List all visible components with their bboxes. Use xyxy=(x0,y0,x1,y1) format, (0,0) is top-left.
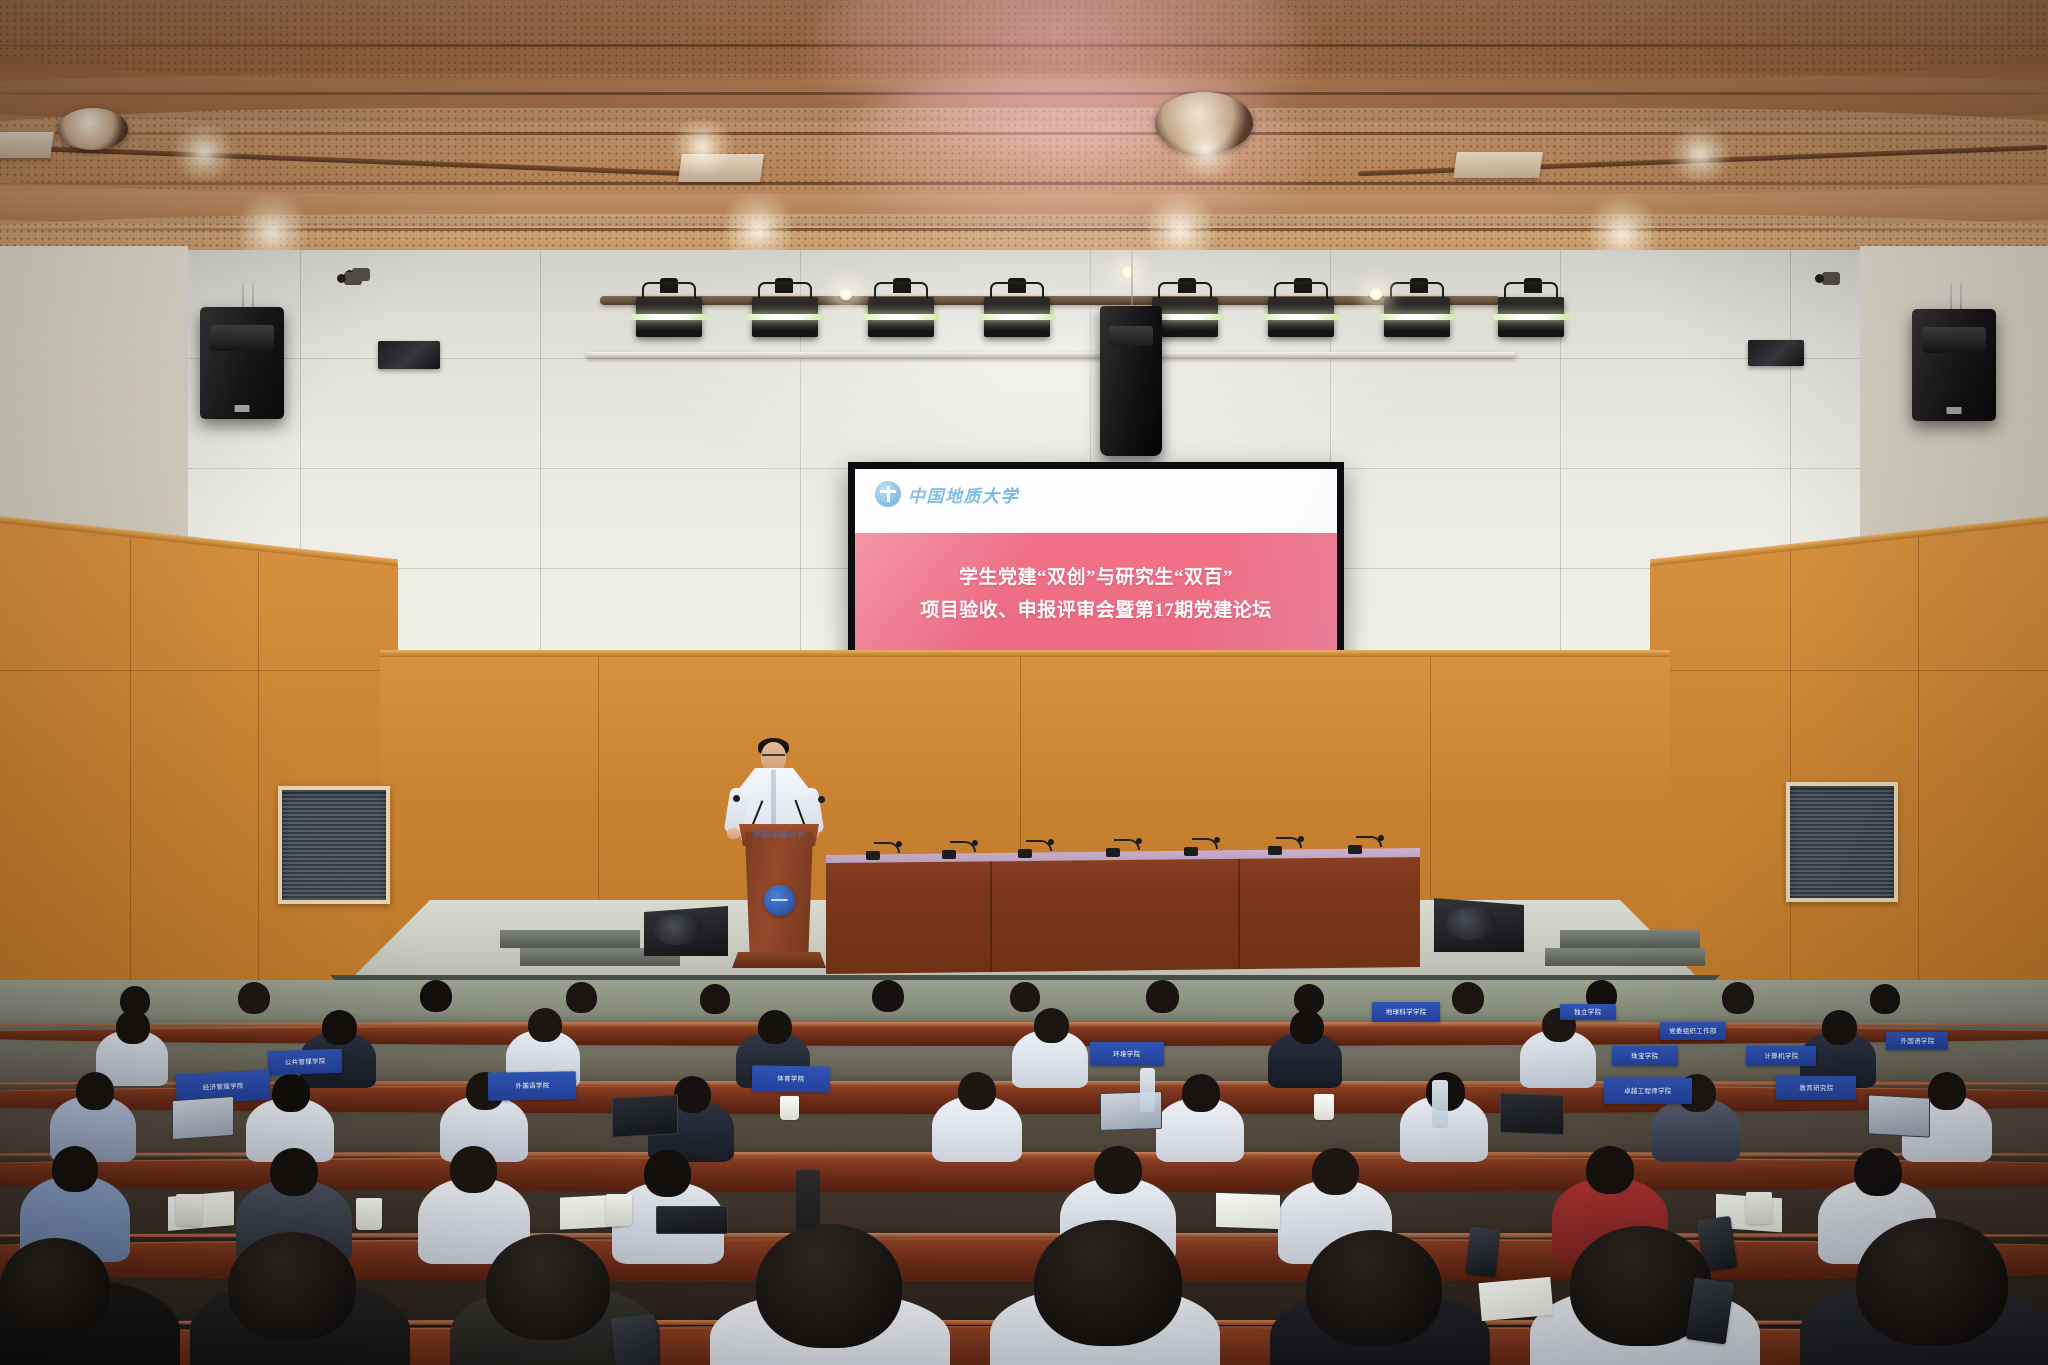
attendee-head-foreground xyxy=(1034,1220,1182,1346)
attendee-head-foreground xyxy=(1306,1230,1442,1346)
stage-step-right-1 xyxy=(1560,930,1700,948)
ceiling-camera-icon xyxy=(344,272,362,285)
attendee-head xyxy=(528,1008,562,1042)
desk-placard: 珠宝学院 xyxy=(1612,1046,1678,1066)
attendee-head xyxy=(1146,980,1179,1013)
wall-light-strip xyxy=(586,352,1516,358)
slide-logo: 中国地质大学 xyxy=(875,481,1019,507)
attendee-head xyxy=(1586,1146,1634,1194)
left-wall-panel xyxy=(378,341,440,369)
center-hanging-speaker xyxy=(1100,306,1162,456)
desk-placard-label: 经济管理学院 xyxy=(202,1081,243,1092)
desk-placard: 体育学院 xyxy=(752,1065,830,1092)
mobile-phone[interactable] xyxy=(1466,1227,1501,1278)
desk-placard: 环境学院 xyxy=(1090,1042,1164,1066)
stage-light-4 xyxy=(984,297,1050,337)
ceiling-downlight-3 xyxy=(1168,122,1244,178)
laptop[interactable] xyxy=(1868,1094,1930,1137)
paper-cup[interactable] xyxy=(1314,1094,1334,1120)
ceiling-downlight-1 xyxy=(168,126,240,180)
ceiling-rect-vent-right xyxy=(1453,152,1543,178)
table-mic-5 xyxy=(1184,847,1198,856)
podium-microphone-head xyxy=(733,795,740,802)
table-mic-2 xyxy=(942,850,956,859)
attendee-head xyxy=(1290,1010,1324,1044)
attendee-head-foreground xyxy=(486,1234,610,1340)
table-mic-7 xyxy=(1348,845,1362,854)
table-mic-4 xyxy=(1106,848,1120,857)
stage-light-8 xyxy=(1498,297,1564,337)
stage-monitor-right xyxy=(1434,898,1524,952)
table-mic-1 xyxy=(866,851,880,860)
document-sheet[interactable] xyxy=(1216,1193,1280,1229)
truss-spot-right xyxy=(1368,286,1384,302)
table-mic-6 xyxy=(1268,846,1282,855)
attendee-head xyxy=(52,1146,98,1192)
attendee-head xyxy=(700,984,730,1014)
desk-placard-label: 体育学院 xyxy=(777,1074,804,1084)
slide-title-band: 学生党建“双创”与研究生“双百” 项目验收、申报评审会暨第17期党建论坛 xyxy=(855,533,1337,651)
wall-vent-left xyxy=(278,786,390,904)
desk-placard: 独立学院 xyxy=(1560,1004,1616,1020)
paper-cup[interactable] xyxy=(176,1194,202,1226)
paper-cup[interactable] xyxy=(1746,1192,1772,1224)
stage-step-right-2 xyxy=(1545,948,1705,966)
attendee-head xyxy=(322,1010,357,1045)
attendee-head xyxy=(450,1146,497,1193)
desk-placard: 地球科学学院 xyxy=(1372,1002,1440,1022)
desk-placard-label: 珠宝学院 xyxy=(1631,1051,1658,1060)
right-security-camera-icon xyxy=(1822,272,1840,285)
attendee-head xyxy=(420,980,452,1012)
attendee-head-foreground xyxy=(756,1224,902,1348)
desk-placard: 外国语学院 xyxy=(1886,1032,1948,1050)
attendee-head-foreground xyxy=(228,1232,356,1340)
desk-placard-label: 环境学院 xyxy=(1113,1049,1140,1058)
attendee-head xyxy=(1854,1148,1902,1196)
desk-placard-label: 地球科学学院 xyxy=(1386,1007,1427,1016)
university-emblem-icon xyxy=(875,481,901,507)
attendee-head xyxy=(1452,982,1484,1014)
podium-base xyxy=(732,952,826,968)
ceiling-round-vent-left xyxy=(58,108,128,150)
mobile-phone-foreground[interactable] xyxy=(1686,1278,1734,1345)
stage-monitor-left xyxy=(644,906,728,956)
slide-title-line-2: 项目验收、申报评审会暨第17期党建论坛 xyxy=(920,595,1272,622)
attendee-head xyxy=(566,982,597,1013)
attendee-head xyxy=(1870,984,1900,1014)
right-wall-speaker xyxy=(1912,309,1996,421)
desk-placard-label: 党委组织工作部 xyxy=(1669,1026,1717,1035)
mobile-phone-foreground[interactable] xyxy=(611,1314,662,1365)
stage-light-6 xyxy=(1268,297,1334,337)
attendee-head xyxy=(1094,1146,1142,1194)
desk-placard: 外国语学院 xyxy=(488,1071,576,1101)
ceiling-rect-vent-far-left xyxy=(0,132,54,158)
laptop[interactable] xyxy=(1500,1093,1564,1135)
attendee-head xyxy=(872,980,904,1012)
paper-cup[interactable] xyxy=(606,1194,632,1226)
attendee-head xyxy=(272,1074,310,1112)
podium-engraved-text: 中国地质大学 xyxy=(742,829,816,840)
university-logo-text: 中国地质大学 xyxy=(908,482,1019,507)
attendee-head xyxy=(1034,1008,1069,1043)
water-bottle[interactable] xyxy=(1432,1080,1448,1128)
speaker-glasses-icon xyxy=(762,754,785,759)
desk-placard: 教育研究院 xyxy=(1776,1076,1856,1100)
truss-spot-center xyxy=(1120,264,1136,280)
audience-area: 公共管理学院经济管理学院外国语学院体育学院环境学院地球科学学院党委组织工作部珠宝… xyxy=(0,980,2048,1365)
attendee-head xyxy=(1928,1072,1966,1110)
attendee-head xyxy=(644,1150,691,1197)
water-bottle[interactable] xyxy=(1140,1068,1155,1112)
wainscot-cap-center xyxy=(380,650,1670,657)
desk-placard: 公共管理学院 xyxy=(268,1049,343,1076)
attendee-head xyxy=(1722,982,1754,1014)
laptop[interactable] xyxy=(612,1094,678,1137)
attendee-head xyxy=(758,1010,792,1044)
desk-placard-label: 卓越工程师学院 xyxy=(1624,1086,1672,1095)
desk-placard: 计算机学院 xyxy=(1746,1046,1816,1066)
lighting-truss xyxy=(600,296,1500,305)
attendee-head xyxy=(1312,1148,1359,1195)
head-table xyxy=(826,857,1420,974)
auditorium-scene: 中国地质大学 学生党建“双创”与研究生“双百” 项目验收、申报评审会暨第17期党… xyxy=(0,0,2048,1365)
desk-placard: 卓越工程师学院 xyxy=(1604,1078,1692,1104)
paper-cup[interactable] xyxy=(780,1096,799,1120)
speaker-left-hand xyxy=(727,828,740,839)
stage-light-2 xyxy=(752,297,818,337)
desk-placard-label: 公共管理学院 xyxy=(284,1057,325,1068)
stage-step-left-1 xyxy=(500,930,640,948)
stage-light-7 xyxy=(1384,297,1450,337)
desk-placard-label: 教育研究院 xyxy=(1799,1083,1833,1092)
attendee-head xyxy=(270,1148,318,1196)
ceiling-downlight-2 xyxy=(666,120,738,174)
laptop[interactable] xyxy=(656,1206,728,1234)
attendee-head xyxy=(674,1076,711,1113)
document-sheet-foreground[interactable] xyxy=(1478,1277,1553,1321)
attendee-head xyxy=(1182,1074,1220,1112)
ceiling-downlight-4 xyxy=(1664,128,1736,182)
stage-light-3 xyxy=(868,297,934,337)
attendee-head-foreground xyxy=(0,1238,110,1336)
stage-light-1 xyxy=(636,297,702,337)
desk-placard-label: 外国语学院 xyxy=(515,1081,549,1091)
attendee-head xyxy=(76,1072,114,1110)
attendee-head xyxy=(1822,1010,1857,1045)
desk-placard-label: 计算机学院 xyxy=(1764,1051,1798,1060)
truss-spot-left xyxy=(838,286,854,302)
wall-vent-right xyxy=(1786,782,1898,902)
attendee-head xyxy=(238,982,270,1014)
university-seal-icon xyxy=(764,885,795,916)
table-mic-3 xyxy=(1018,849,1032,858)
desk-placard: 党委组织工作部 xyxy=(1660,1022,1726,1040)
attendee-head xyxy=(116,1010,150,1044)
desk-placard-label: 独立学院 xyxy=(1574,1007,1601,1016)
attendee-head xyxy=(1010,982,1040,1012)
left-wall-speaker xyxy=(200,307,284,419)
paper-cup[interactable] xyxy=(356,1198,382,1230)
podium-microphone-head-2 xyxy=(818,796,825,803)
attendee-head xyxy=(958,1072,996,1110)
right-wall-panel xyxy=(1748,340,1804,366)
laptop[interactable] xyxy=(172,1096,234,1140)
slide-title-line-1: 学生党建“双创”与研究生“双百” xyxy=(959,562,1233,589)
attendee-head-foreground xyxy=(1856,1218,2008,1346)
desk-placard-label: 外国语学院 xyxy=(1900,1036,1934,1045)
